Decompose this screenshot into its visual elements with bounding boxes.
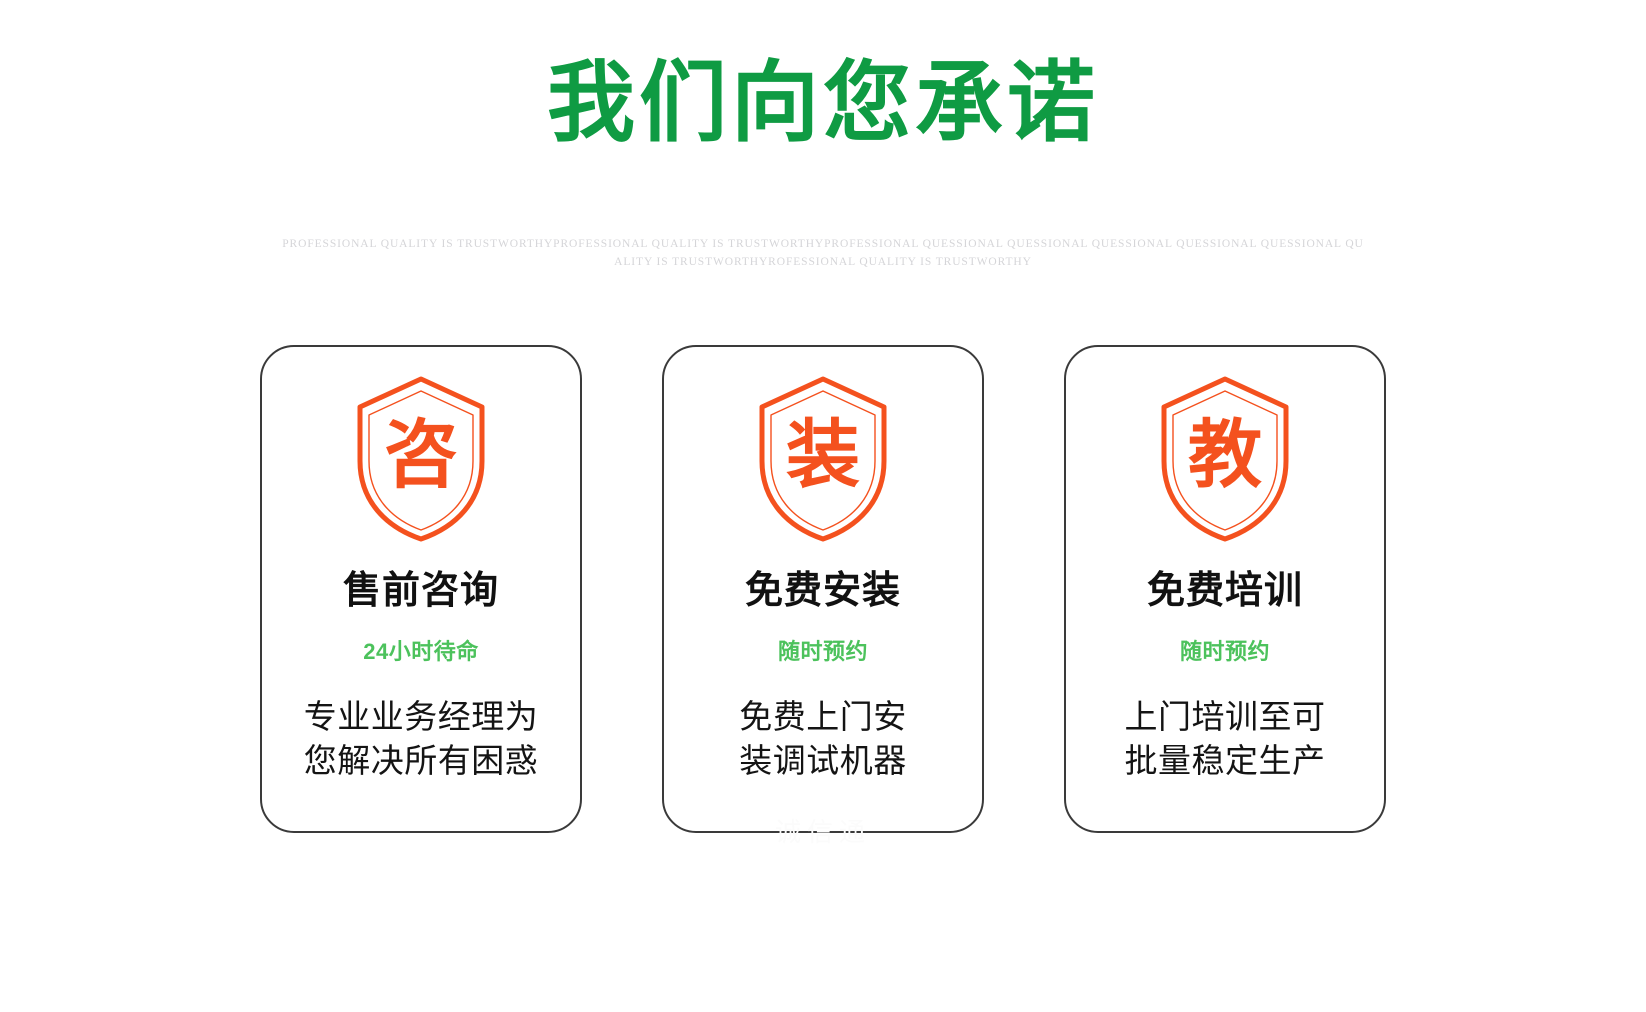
shield-icon: 教 — [1158, 375, 1292, 543]
shield-icon: 装 — [756, 375, 890, 543]
card-title: 免费安装 — [745, 569, 901, 615]
card-tag: 随时预约 — [778, 639, 868, 665]
subtitle-line-1: PROFESSIONAL QUALITY IS TRUSTWORTHYPROFE… — [0, 236, 1646, 254]
subtitle-line-2: ALITY IS TRUSTWORTHYROFESSIONAL QUALITY … — [0, 254, 1646, 272]
card-tag: 24小时待命 — [363, 639, 478, 665]
card-description-line: 装调试机器 — [739, 739, 907, 783]
card-description-line: 专业业务经理为 — [304, 695, 539, 739]
subtitle-block: PROFESSIONAL QUALITY IS TRUSTWORTHYPROFE… — [0, 236, 1646, 272]
section-header: 我们向您承诺 — [0, 54, 1646, 153]
card-description-line: 您解决所有困惑 — [304, 739, 539, 783]
card-description: 上门培训至可 批量稳定生产 — [1125, 695, 1326, 783]
card-title: 免费培训 — [1147, 569, 1303, 615]
card-description-line: 批量稳定生产 — [1125, 739, 1326, 783]
card-description-line: 免费上门安 — [739, 695, 907, 739]
badge-character: 装 — [786, 418, 860, 492]
page-title: 我们向您承诺 — [0, 54, 1646, 153]
card-description: 免费上门安 装调试机器 — [739, 695, 907, 783]
shield-icon: 咨 — [354, 375, 488, 543]
card-description: 专业业务经理为 您解决所有困惑 — [304, 695, 539, 783]
promise-card-list: 咨 售前咨询 24小时待命 专业业务经理为 您解决所有困惑 装 免费安装 随时预… — [0, 345, 1646, 833]
card-description-line: 上门培训至可 — [1125, 695, 1326, 739]
promise-section: 我们向您承诺 PROFESSIONAL QUALITY IS TRUSTWORT… — [0, 0, 1646, 1012]
card-tag: 随时预约 — [1180, 639, 1270, 665]
card-title: 售前咨询 — [343, 569, 499, 615]
promise-card[interactable]: 咨 售前咨询 24小时待命 专业业务经理为 您解决所有困惑 — [260, 345, 582, 833]
badge-character: 咨 — [384, 418, 458, 492]
promise-card[interactable]: 教 免费培训 随时预约 上门培训至可 批量稳定生产 — [1064, 345, 1386, 833]
badge-character: 教 — [1188, 418, 1262, 492]
promise-card[interactable]: 装 免费安装 随时预约 免费上门安 装调试机器 — [662, 345, 984, 833]
